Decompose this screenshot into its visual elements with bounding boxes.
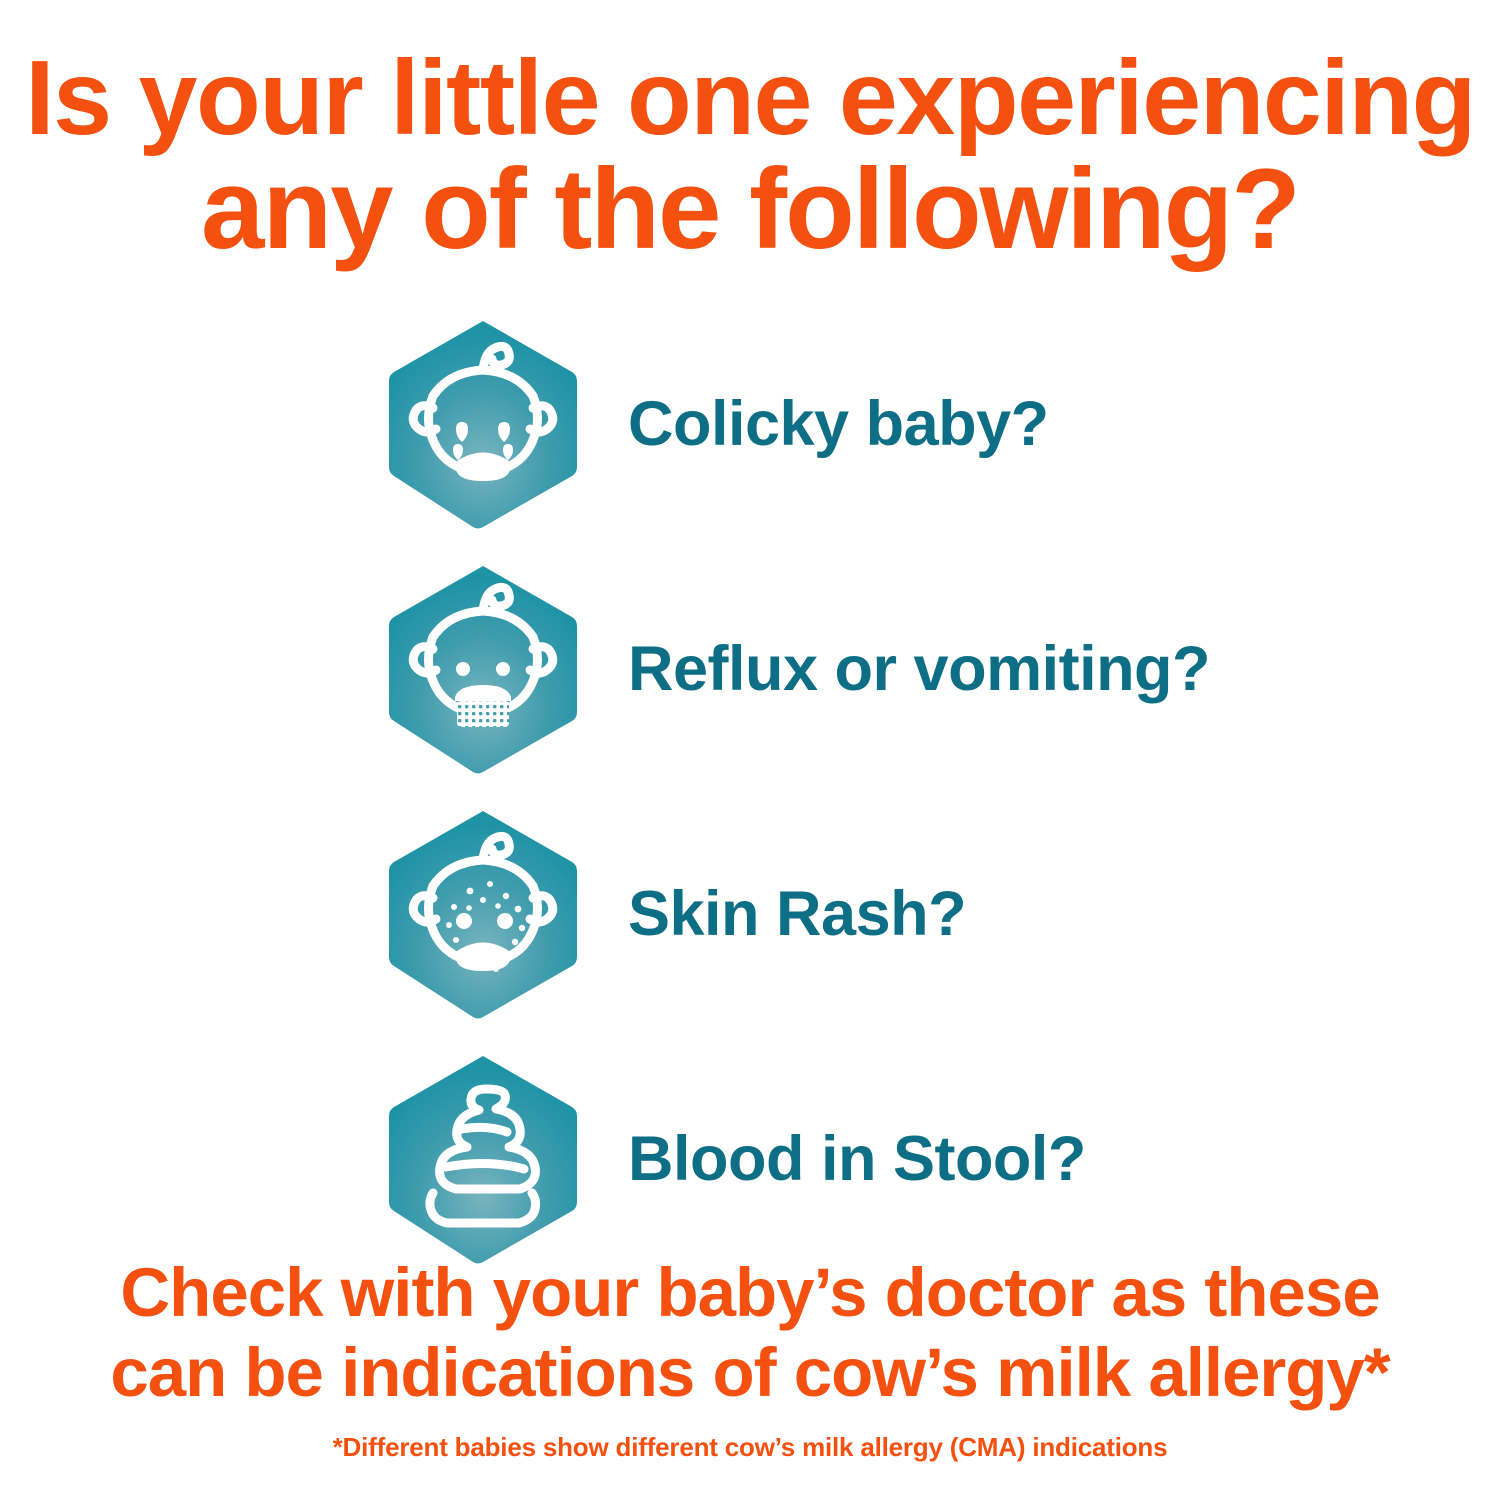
rash-baby-face-icon [386, 808, 580, 1020]
page-headline: Is your little one experiencing any of t… [0, 42, 1500, 266]
stool-icon [386, 1053, 580, 1265]
symptom-row: Skin Rash? [0, 808, 1500, 1053]
symptom-row: Colicky baby? [0, 318, 1500, 563]
symptom-icon-badge [386, 808, 580, 1020]
crying-baby-face-icon [386, 318, 580, 530]
symptom-label: Skin Rash? [628, 808, 966, 1020]
cta-line-2: can be indications of cow’s milk allergy… [0, 1333, 1500, 1413]
cta-line-1: Check with your baby’s doctor as these [0, 1253, 1500, 1333]
symptom-icon-badge [386, 563, 580, 775]
symptom-list: Colicky baby? [0, 318, 1500, 1298]
symptom-icon-badge [386, 318, 580, 530]
headline-line-2: any of the following? [0, 154, 1500, 266]
call-to-action: Check with your baby’s doctor as these c… [0, 1253, 1500, 1413]
symptom-row: Reflux or vomiting? [0, 563, 1500, 808]
vomiting-baby-face-icon [386, 563, 580, 775]
symptom-icon-badge [386, 1053, 580, 1265]
footnote: *Different babies show different cow’s m… [0, 1432, 1500, 1463]
symptom-label: Blood in Stool? [628, 1053, 1086, 1265]
headline-line-1: Is your little one experiencing [0, 42, 1500, 154]
infographic-poster: Is your little one experiencing any of t… [0, 0, 1500, 1500]
symptom-label: Reflux or vomiting? [628, 563, 1210, 775]
symptom-label: Colicky baby? [628, 318, 1049, 530]
